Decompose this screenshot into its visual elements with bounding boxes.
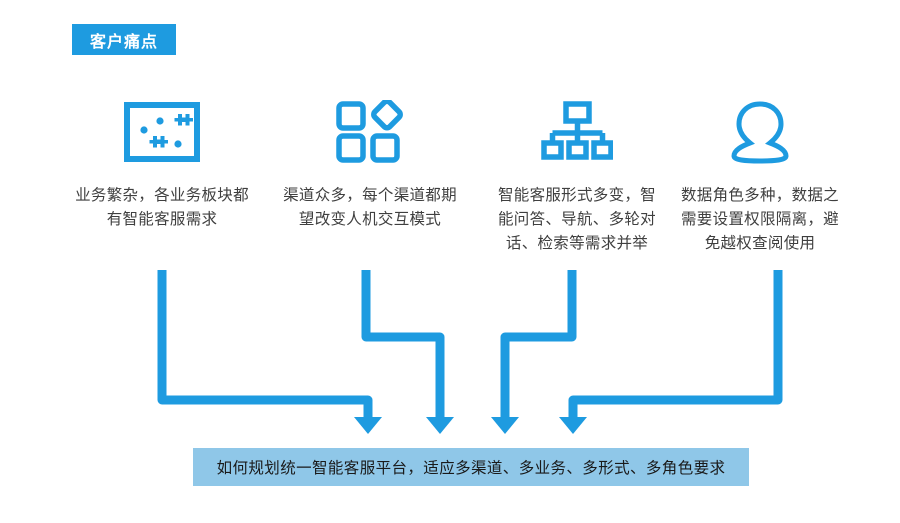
pain-point-column-1: 业务繁杂，各业务板块都有智能客服需求 (67, 96, 257, 232)
slide-canvas: 客户痛点 业务繁杂，各业务板块都有智能客服需求 (0, 0, 900, 523)
flow-connectors (0, 0, 900, 523)
connector-path-1 (162, 270, 368, 424)
pain-point-column-3: 智能客服形式多变，智能问答、导航、多轮对话、检索等需求并举 (482, 96, 672, 256)
dots-board-icon (124, 96, 200, 168)
connector-path-3 (505, 270, 572, 424)
section-title-text: 客户痛点 (90, 28, 158, 52)
arrowhead-3 (491, 417, 519, 434)
four-shapes-icon (335, 96, 405, 168)
user-person-icon (729, 96, 791, 168)
pain-point-caption-2: 渠道众多，每个渠道都期望改变人机交互模式 (280, 184, 460, 232)
arrowhead-4 (559, 417, 587, 434)
connector-path-2 (366, 270, 440, 424)
connector-path-4 (573, 270, 778, 424)
summary-banner: 如何规划统一智能客服平台，适应多渠道、多业务、多形式、多角色要求 (193, 448, 749, 486)
arrowhead-1 (354, 417, 382, 434)
pain-point-column-2: 渠道众多，每个渠道都期望改变人机交互模式 (275, 96, 465, 232)
summary-banner-text: 如何规划统一智能客服平台，适应多渠道、多业务、多形式、多角色要求 (217, 456, 726, 478)
hierarchy-tree-icon (541, 96, 613, 168)
section-title-badge: 客户痛点 (72, 24, 176, 55)
pain-point-caption-3: 智能客服形式多变，智能问答、导航、多轮对话、检索等需求并举 (491, 184, 663, 256)
pain-point-caption-1: 业务繁杂，各业务板块都有智能客服需求 (72, 184, 252, 232)
pain-point-column-4: 数据角色多种，数据之需要设置权限隔离，避免越权查阅使用 (665, 96, 855, 256)
pain-point-caption-4: 数据角色多种，数据之需要设置权限隔离，避免越权查阅使用 (674, 184, 846, 256)
arrowhead-2 (426, 417, 454, 434)
